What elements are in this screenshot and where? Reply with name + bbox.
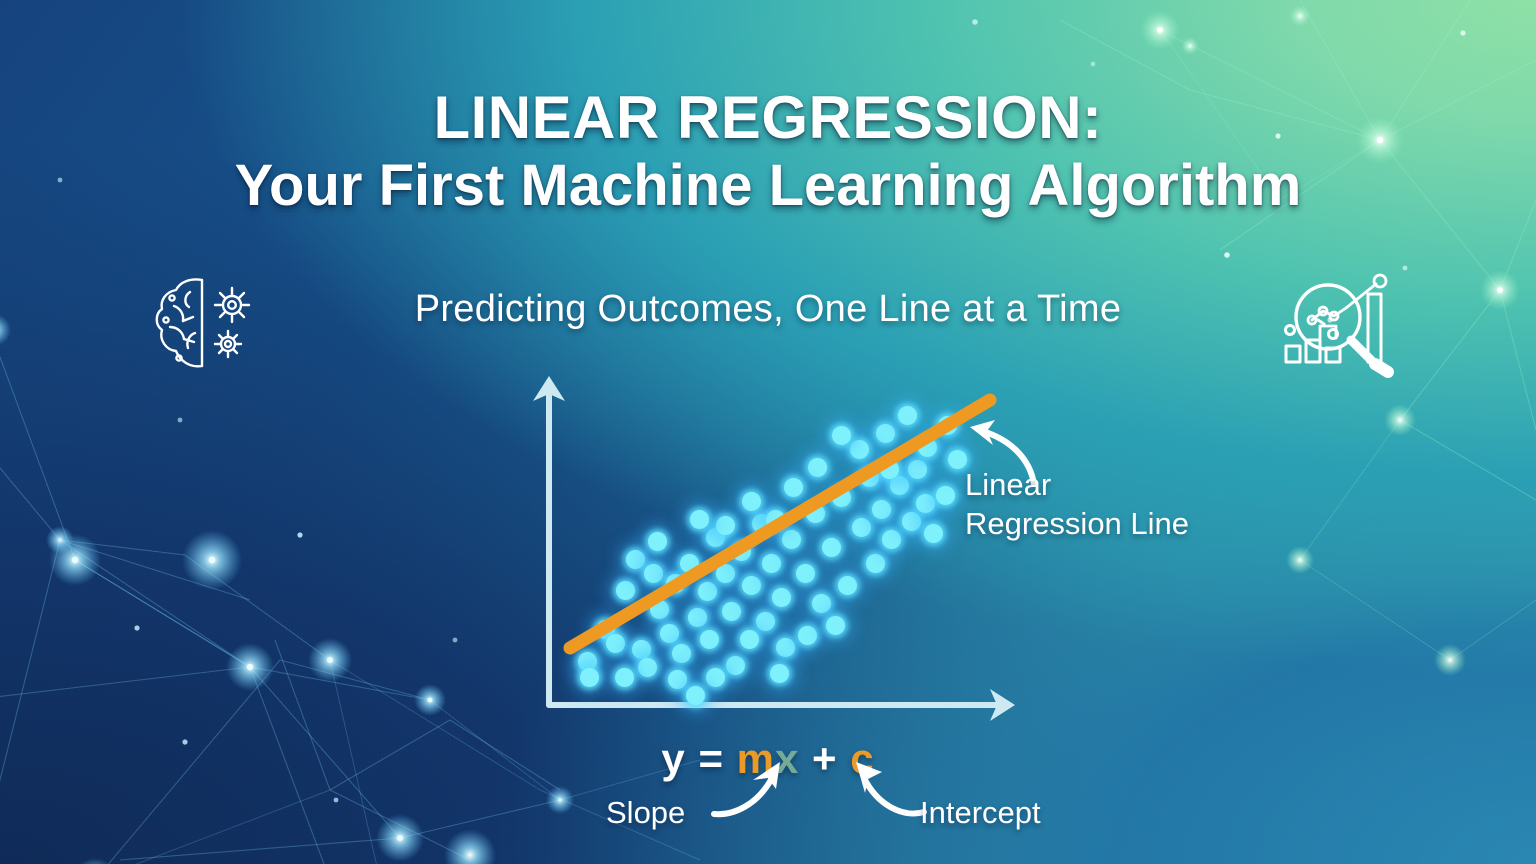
scatter-dot <box>872 500 891 519</box>
scatter-dot <box>782 530 801 549</box>
scatter-dot <box>902 512 921 531</box>
scatter-dot <box>918 438 937 457</box>
scatter-dot <box>698 582 717 601</box>
scatter-dot <box>732 542 751 561</box>
scatter-dot <box>832 426 851 445</box>
scatter-dot <box>812 594 831 613</box>
scatter-dot <box>648 532 667 551</box>
scatter-dot <box>890 476 909 495</box>
slope-arrow-icon <box>710 756 800 826</box>
scatter-dot <box>650 600 669 619</box>
scatter-dot <box>880 460 899 479</box>
scatter-dot <box>680 554 699 573</box>
scatter-dot <box>916 494 935 513</box>
scatter-dot <box>700 630 719 649</box>
intercept-arrow-icon <box>838 756 928 826</box>
scatter-dot <box>806 504 825 523</box>
scatter-dot <box>672 644 691 663</box>
intercept-label: Intercept <box>920 795 1041 831</box>
scatter-dot <box>808 458 827 477</box>
brain-gears-icon <box>150 272 276 372</box>
scatter-dot <box>784 478 803 497</box>
scatter-dot <box>742 492 761 511</box>
scatter-dot <box>726 656 745 675</box>
scatter-dot <box>722 602 741 621</box>
scatter-dot <box>688 608 707 627</box>
regression-line-callout: Linear Regression Line <box>965 466 1265 544</box>
scatter-dot <box>615 668 634 687</box>
equation-y: y <box>661 735 685 782</box>
scatter-dot <box>762 554 781 573</box>
scatter-dot <box>580 668 599 687</box>
callout-line1: Linear <box>965 466 1265 505</box>
scatter-dot <box>742 576 761 595</box>
scatter-dot <box>832 488 851 507</box>
scatter-dot <box>668 670 687 689</box>
scatter-dot <box>626 550 645 569</box>
scatter-dot <box>772 588 791 607</box>
scatter-dot <box>898 406 917 425</box>
scatter-dot <box>740 630 759 649</box>
scatter-dot <box>716 516 735 535</box>
data-analysis-magnifier-icon <box>1272 268 1412 380</box>
scatter-dot <box>826 616 845 635</box>
scatter-dot <box>770 664 789 683</box>
scatter-dot <box>936 486 955 505</box>
scatter-dot <box>716 564 735 583</box>
callout-line2: Regression Line <box>965 505 1265 544</box>
scatter-dot <box>822 538 841 557</box>
scatter-dot <box>876 424 895 443</box>
scatter-dot <box>882 530 901 549</box>
scatter-dot <box>756 612 775 631</box>
scatter-dot <box>690 510 709 529</box>
scatter-dot <box>766 510 785 529</box>
scatter-dot <box>908 460 927 479</box>
equation-plus: + <box>812 735 838 782</box>
scatter-dot <box>852 518 871 537</box>
scatter-dot <box>686 686 705 705</box>
scatter-dot <box>776 638 795 657</box>
scatter-dot <box>666 574 685 593</box>
scatter-dot <box>838 576 857 595</box>
scatter-dot <box>606 634 625 653</box>
title-block: LINEAR REGRESSION: Your First Machine Le… <box>0 88 1536 217</box>
scatter-dot <box>638 658 657 677</box>
scatter-dot <box>616 581 635 600</box>
scatter-dot <box>866 554 885 573</box>
scatter-dot <box>644 564 663 583</box>
scatter-dot <box>860 468 879 487</box>
scatter-dot <box>796 564 815 583</box>
scatter-dot <box>850 440 869 459</box>
scatter-dot <box>632 640 651 659</box>
slide-canvas: LINEAR REGRESSION: Your First Machine Le… <box>0 0 1536 864</box>
page-title-line1: LINEAR REGRESSION: <box>0 88 1536 148</box>
slope-label: Slope <box>606 795 685 831</box>
scatter-dot <box>798 626 817 645</box>
scatter-dot <box>938 416 957 435</box>
scatter-dot <box>924 524 943 543</box>
scatter-dot <box>660 624 679 643</box>
scatter-dot <box>706 668 725 687</box>
page-title-line2: Your First Machine Learning Algorithm <box>0 156 1536 217</box>
